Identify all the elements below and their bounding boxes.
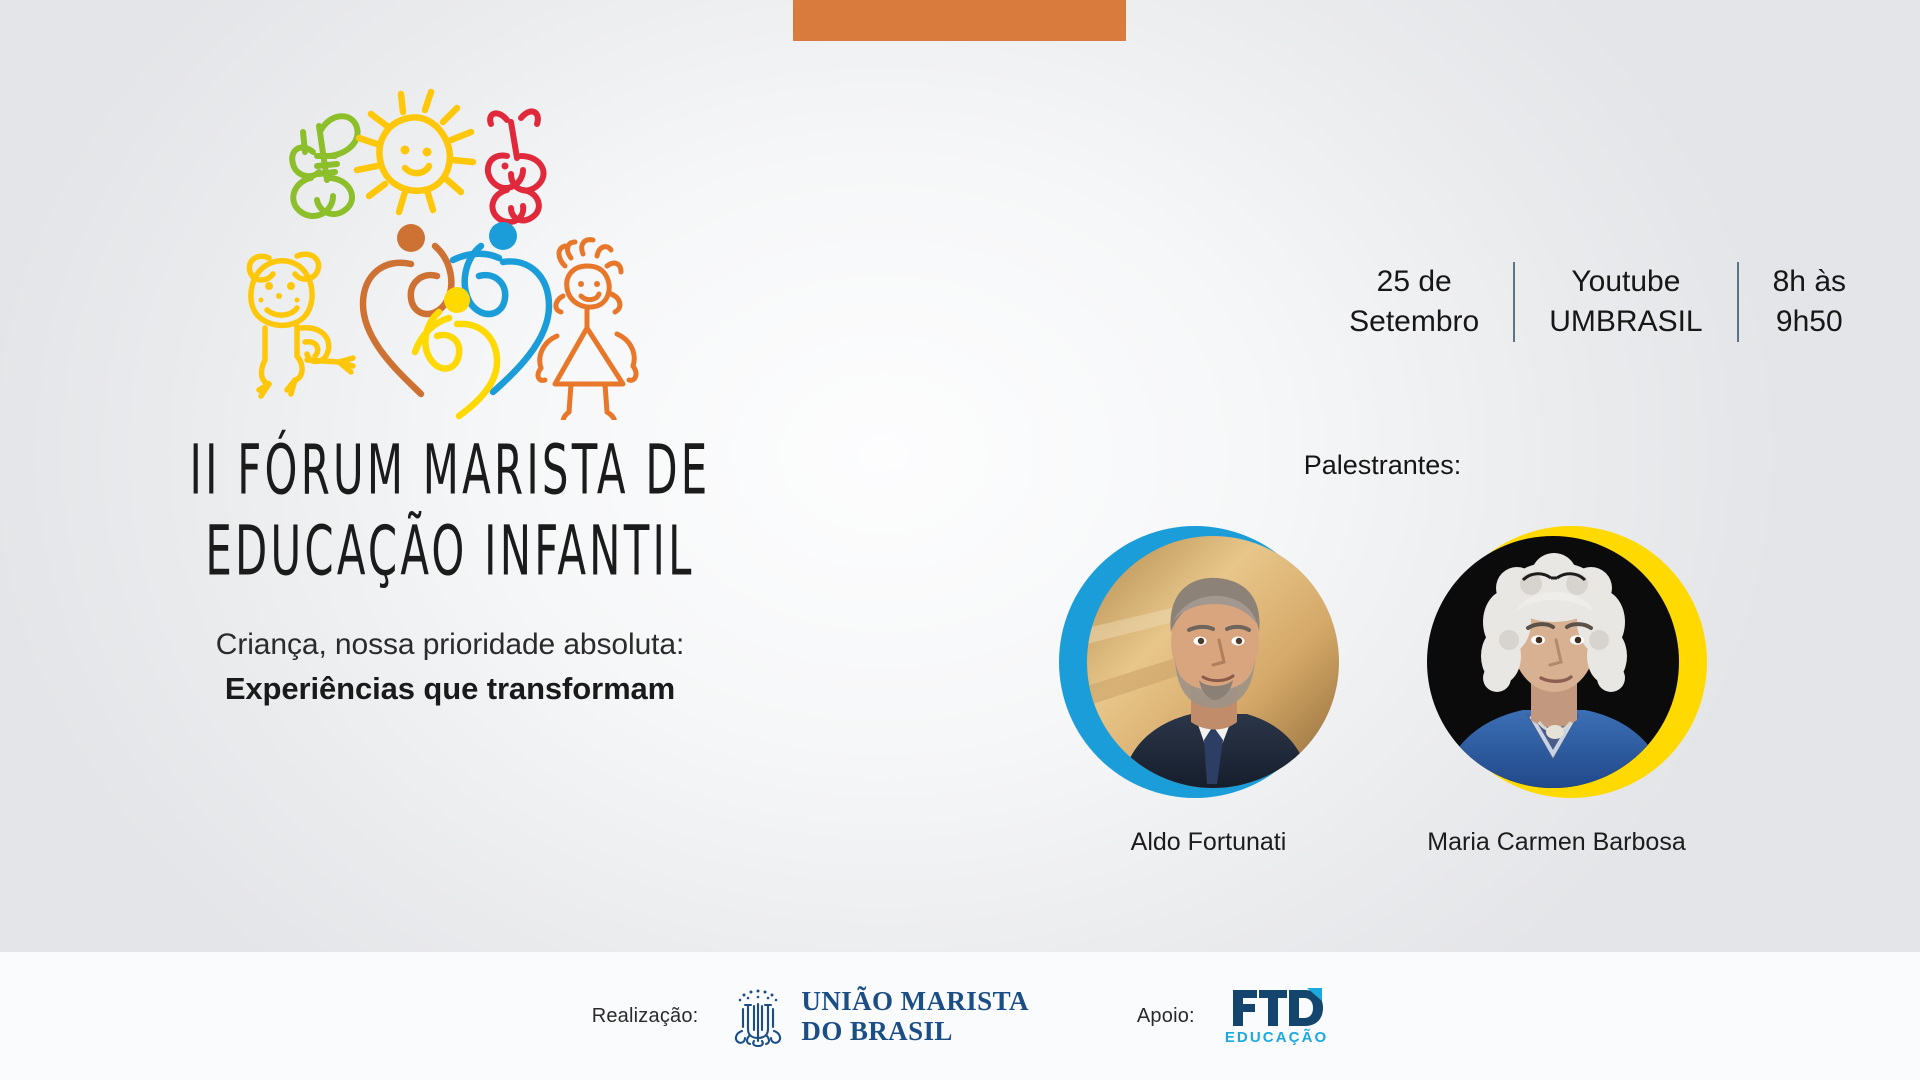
umbrasil-line-2: DO BRASIL [801, 1016, 1028, 1046]
tagline-line-1: Criança, nossa prioridade absoluta: [0, 623, 900, 667]
speaker-name: Aldo Fortunati [1059, 828, 1359, 857]
ftd-mark-icon [1231, 986, 1323, 1028]
info-platform-line-1: Youtube [1549, 262, 1702, 302]
ftd-subtitle: EDUCAÇÃO [1225, 1029, 1328, 1046]
umbrasil-wordmark: UNIÃO MARISTA DO BRASIL [801, 986, 1028, 1046]
speaker-portrait [1407, 512, 1707, 812]
speakers-label: Palestrantes: [900, 450, 1865, 481]
event-tagline: Criança, nossa prioridade absoluta: Expe… [0, 623, 900, 711]
footer-sponsors: Realização: [0, 952, 1920, 1080]
info-date-line-2: Setembro [1349, 302, 1479, 342]
right-details-block: 25 de Setembro Youtube UMBRASIL 8h às 9h… [900, 0, 1920, 952]
speakers-row: Aldo Fortunati [900, 512, 1865, 857]
tagline-line-2: Experiências que transformam [0, 667, 900, 712]
realizacao-label: Realização: [592, 1005, 699, 1028]
ftd-logo: EDUCAÇÃO [1225, 986, 1328, 1046]
speaker-portrait [1059, 512, 1359, 812]
event-banner: II FÓRUM MARISTA DE EDUCAÇÃO INFANTIL Cr… [0, 0, 1920, 1080]
event-info-strip: 25 de Setembro Youtube UMBRASIL 8h às 9h… [900, 262, 1880, 342]
speaker-card: Aldo Fortunati [1059, 512, 1359, 857]
wordmark-line-2: EDUCAÇÃO INFANTIL [32, 507, 869, 595]
wordmark-line-1: II FÓRUM MARISTA DE [32, 426, 869, 514]
children-drawing-logo-icon [235, 60, 665, 420]
speaker-photo-maria-carmen-barbosa [1427, 536, 1679, 788]
info-platform: Youtube UMBRASIL [1513, 262, 1736, 342]
apoio-label: Apoio: [1137, 1005, 1195, 1028]
speaker-card: Maria Carmen Barbosa [1407, 512, 1707, 857]
event-wordmark: II FÓRUM MARISTA DE EDUCAÇÃO INFANTIL [0, 426, 900, 571]
umbrasil-logo: UNIÃO MARISTA DO BRASIL [728, 985, 1028, 1047]
umbrasil-line-1: UNIÃO MARISTA [801, 986, 1028, 1016]
speaker-name: Maria Carmen Barbosa [1407, 828, 1707, 857]
info-time: 8h às 9h50 [1737, 262, 1880, 342]
info-platform-line-2: UMBRASIL [1549, 302, 1702, 342]
info-date: 25 de Setembro [1315, 262, 1513, 342]
info-date-line-1: 25 de [1349, 262, 1479, 302]
speaker-photo-aldo-fortunati [1087, 536, 1339, 788]
umbrasil-crest-icon [728, 985, 788, 1047]
left-identity-block: II FÓRUM MARISTA DE EDUCAÇÃO INFANTIL Cr… [0, 60, 900, 711]
info-time-line-1: 8h às [1773, 262, 1846, 302]
info-time-line-2: 9h50 [1773, 302, 1846, 342]
